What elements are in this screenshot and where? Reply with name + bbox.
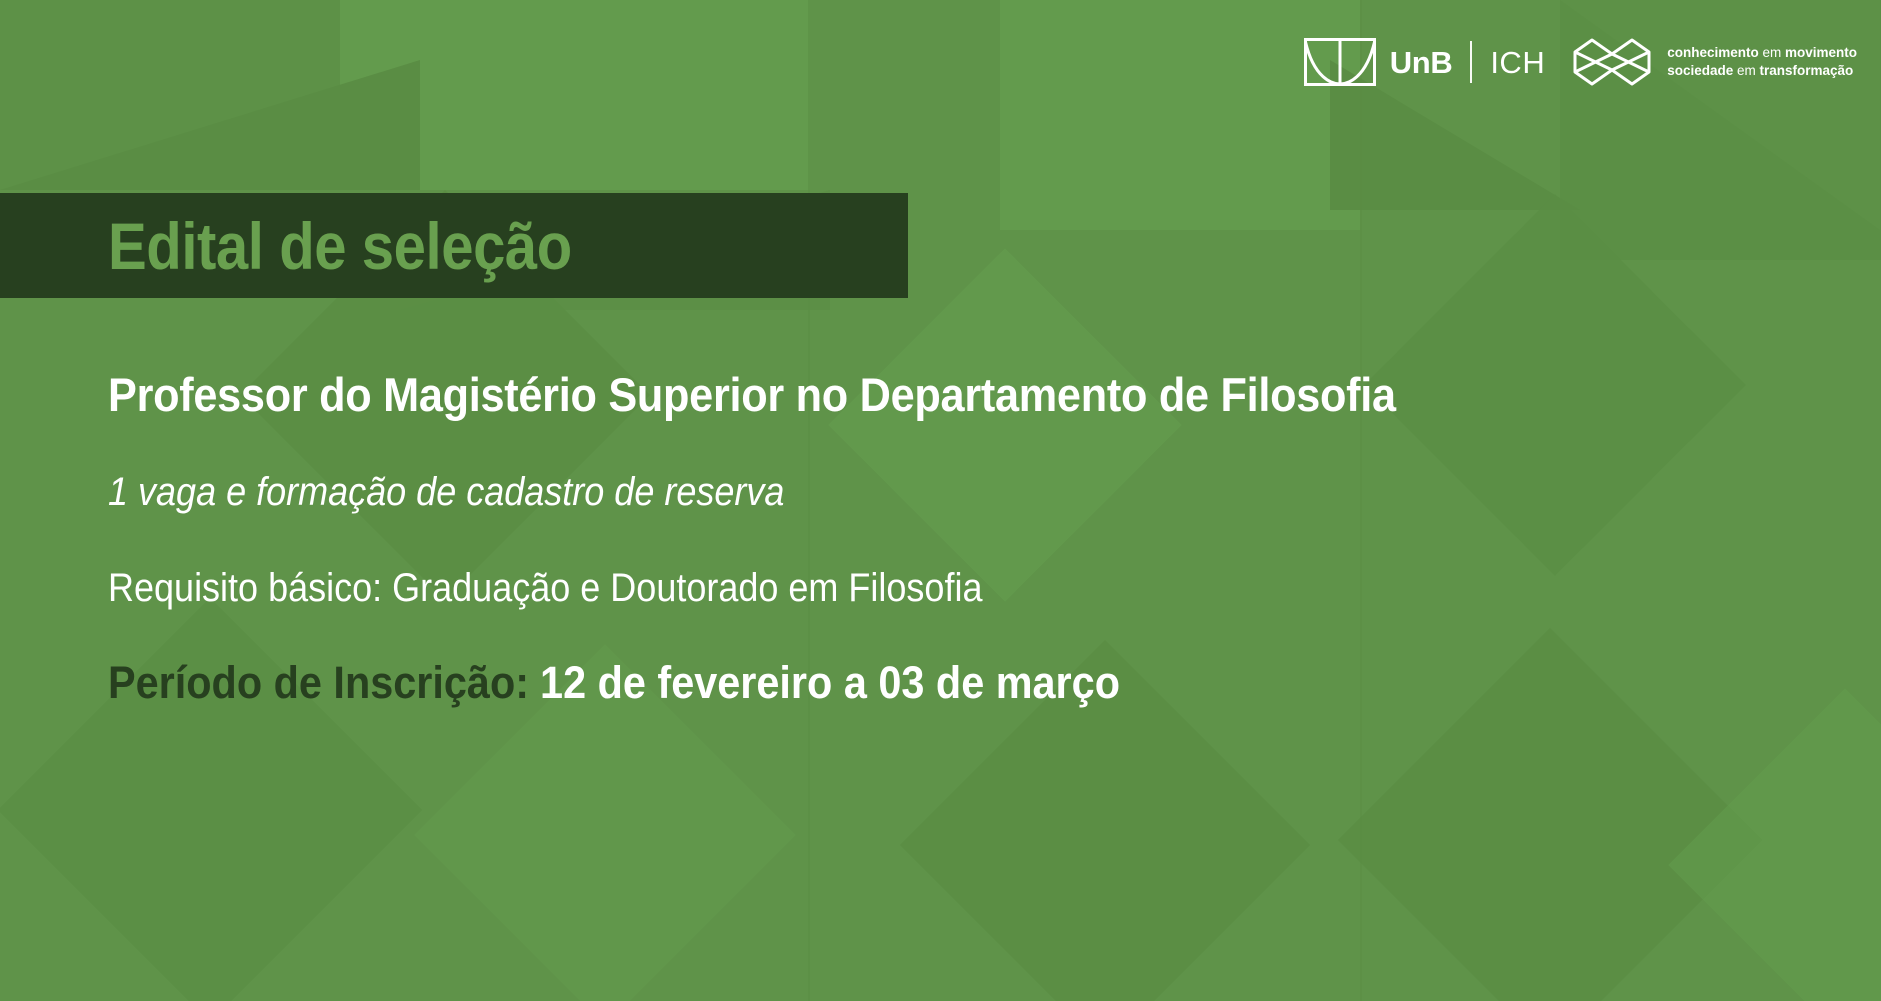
ich-lockup: conhecimento em movimento sociedade em t… <box>1571 36 1857 88</box>
registration-period-value: 12 de fevereiro a 03 de março <box>540 657 1120 708</box>
institute-abbrev: ICH <box>1490 47 1545 78</box>
tagline-word-em-1: em <box>1759 45 1785 60</box>
bg-wedge-4 <box>1560 0 1880 230</box>
logo-bar: UnB ICH conhecimento em movimento socied… <box>1304 36 1857 88</box>
position-title: Professor do Magistério Superior no Depa… <box>108 370 1702 419</box>
tagline-word-sociedade: sociedade <box>1667 63 1733 78</box>
bg-panel-1 <box>0 0 340 190</box>
bg-diamond-8 <box>1668 688 1881 1001</box>
ich-tagline: conhecimento em movimento sociedade em t… <box>1667 44 1857 80</box>
poster-content: Professor do Magistério Superior no Depa… <box>108 370 1841 707</box>
registration-period-label: Período de Inscrição: <box>108 657 529 708</box>
banner-title: Edital de seleção <box>108 213 572 279</box>
bg-panel-2 <box>340 0 810 190</box>
unb-logo-mark <box>1304 38 1376 86</box>
tagline-line-2: sociedade em transformação <box>1667 62 1857 80</box>
vacancies-text: 1 vaga e formação de cadastro de reserva <box>108 471 1668 513</box>
registration-period: Período de Inscrição:12 de fevereiro a 0… <box>108 659 1702 706</box>
tagline-line-1: conhecimento em movimento <box>1667 44 1857 62</box>
unb-wordmark: UnB <box>1390 47 1453 78</box>
bg-wedge-1 <box>0 60 420 190</box>
bg-panel-3 <box>1000 0 1360 230</box>
tagline-word-movimento: movimento <box>1785 45 1857 60</box>
logo-divider <box>1470 41 1472 83</box>
edital-poster: UnB ICH conhecimento em movimento socied… <box>0 0 1881 1001</box>
unb-lockup: UnB <box>1304 38 1453 86</box>
tagline-word-transformacao: transformação <box>1760 63 1854 78</box>
requirement-text: Requisito básico: Graduação e Doutorado … <box>108 567 1668 609</box>
title-banner: Edital de seleção <box>0 193 908 298</box>
tagline-word-em-2: em <box>1733 63 1759 78</box>
tagline-word-conhecimento: conhecimento <box>1667 45 1759 60</box>
ich-infinity-logo <box>1571 36 1653 88</box>
